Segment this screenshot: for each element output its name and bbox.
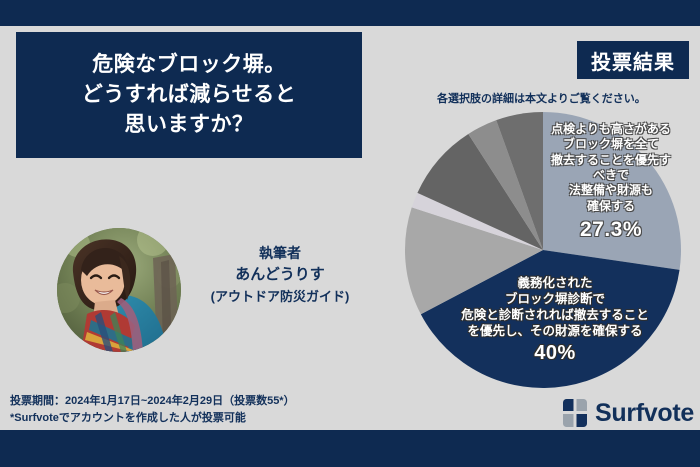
results-badge: 投票結果 — [577, 41, 689, 79]
author-avatar — [57, 228, 181, 352]
pie-slice — [543, 112, 681, 270]
vote-period-footnote: 投票期間：2024年1月17日~2024年2月29日（投票数55*） *Surf… — [10, 393, 295, 427]
chart-note: 各選択肢の詳細は本文よりご覧ください。 — [437, 90, 646, 106]
pie-chart-svg — [404, 111, 682, 389]
poll-question-title-box: 危険なブロック塀。 どうすれば減らせると 思いますか？ — [16, 32, 362, 158]
surfvote-logo: Surfvote — [562, 398, 694, 428]
author-portrait-image — [57, 228, 181, 352]
author-role-label: 執筆者 — [190, 243, 370, 264]
page-title-line-1: 危険なブロック塀。 — [92, 50, 286, 80]
bottom-navy-bar — [0, 430, 700, 467]
author-info: 執筆者 あんどうりす (アウトドア防災ガイド) — [190, 243, 370, 306]
top-navy-bar — [0, 0, 700, 26]
vote-eligibility-note: *Surfvoteでアカウントを作成した人が投票可能 — [10, 410, 295, 427]
poll-result-slide: 危険なブロック塀。 どうすれば減らせると 思いますか？ — [0, 0, 700, 467]
pie-slice-group — [405, 112, 681, 388]
page-title-line-3: 思いますか？ — [125, 110, 254, 140]
author-name: あんどうりす — [190, 264, 370, 287]
poll-pie-chart — [404, 111, 682, 389]
surfvote-logo-mark-icon — [562, 398, 588, 428]
surfvote-logo-text: Surfvote — [595, 399, 694, 428]
results-badge-label: 投票結果 — [591, 46, 675, 75]
author-subtitle: (アウトドア防災ガイド) — [190, 287, 370, 307]
page-title-line-2: どうすれば減らせると — [82, 80, 297, 110]
vote-period-line: 投票期間：2024年1月17日~2024年2月29日（投票数55*） — [10, 393, 295, 410]
